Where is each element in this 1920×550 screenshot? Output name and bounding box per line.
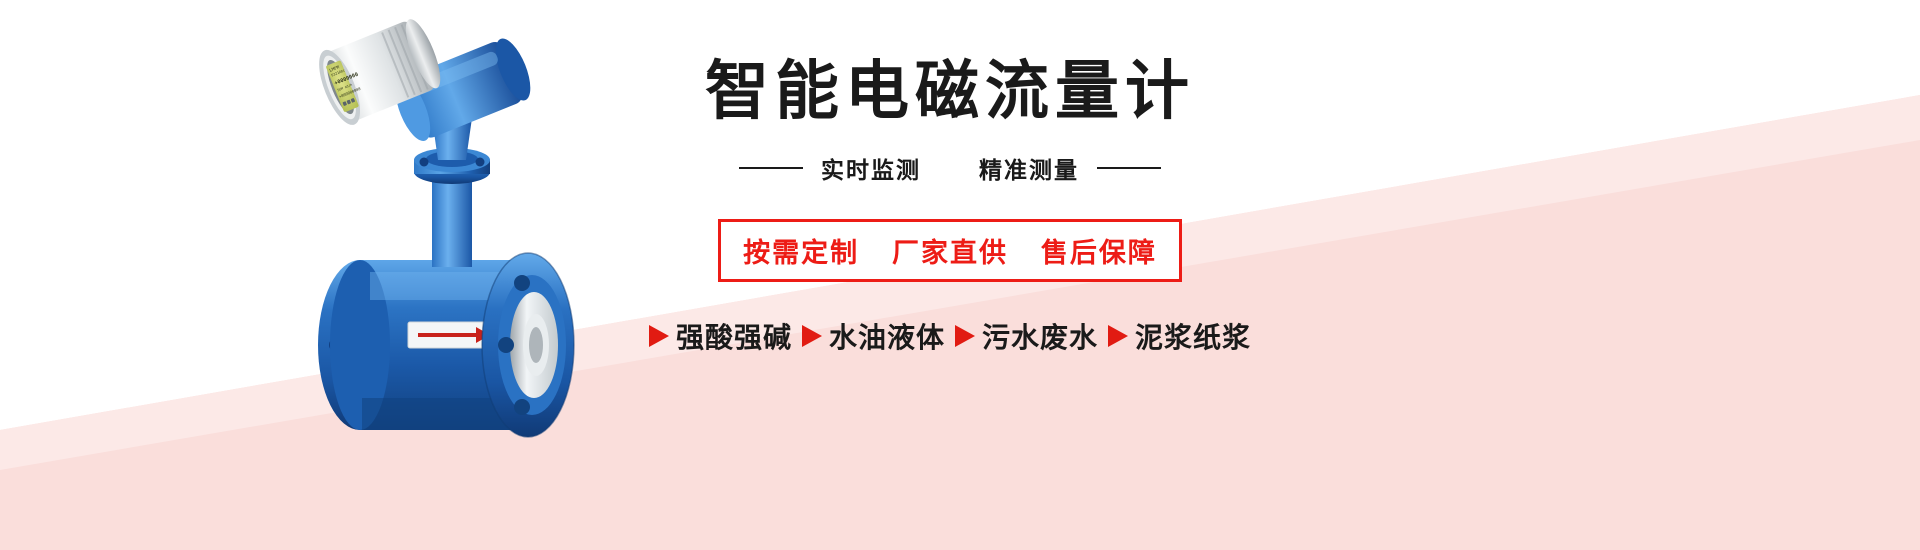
subtitle-left-text: 实时监测 (821, 151, 921, 185)
subtitle-row: 实时监测 精准测量 (600, 151, 1300, 185)
arrow-right-icon (1108, 325, 1128, 347)
promo-box: 按需定制 厂家直供 售后保障 (718, 219, 1182, 282)
product-banner: LMFM E321Abc +0000000 SUM m3/h +00000000… (0, 0, 1920, 550)
feature-label: 污水废水 (982, 316, 1098, 356)
banner-text-column: 智能电磁流量计 实时监测 精准测量 按需定制 厂家直供 售后保障 强酸强碱 (600, 40, 1300, 460)
subtitle-right-text: 精准测量 (979, 151, 1079, 185)
feature-list: 强酸强碱 水油液体 污水废水 泥浆纸浆 (600, 316, 1300, 356)
arrow-right-icon (955, 325, 975, 347)
feature-label: 水油液体 (829, 316, 945, 356)
page-title: 智能电磁流量计 (600, 40, 1300, 125)
promo-box-wrapper: 按需定制 厂家直供 售后保障 (600, 185, 1300, 282)
promo-item-2: 厂家直供 (892, 238, 1008, 268)
feature-item: 泥浆纸浆 (1108, 316, 1251, 356)
promo-item-1: 按需定制 (743, 238, 859, 268)
subtitle-divider-right (1097, 167, 1161, 169)
promo-item-3: 售后保障 (1041, 238, 1157, 268)
feature-item: 强酸强碱 (649, 316, 792, 356)
arrow-right-icon (802, 325, 822, 347)
feature-item: 水油液体 (802, 316, 945, 356)
arrow-right-icon (649, 325, 669, 347)
feature-item: 污水废水 (955, 316, 1098, 356)
right-flange (482, 253, 574, 437)
flow-direction-arrow (408, 322, 494, 348)
subtitle-divider-left (739, 167, 803, 169)
feature-label: 泥浆纸浆 (1135, 316, 1251, 356)
feature-label: 强酸强碱 (676, 316, 792, 356)
